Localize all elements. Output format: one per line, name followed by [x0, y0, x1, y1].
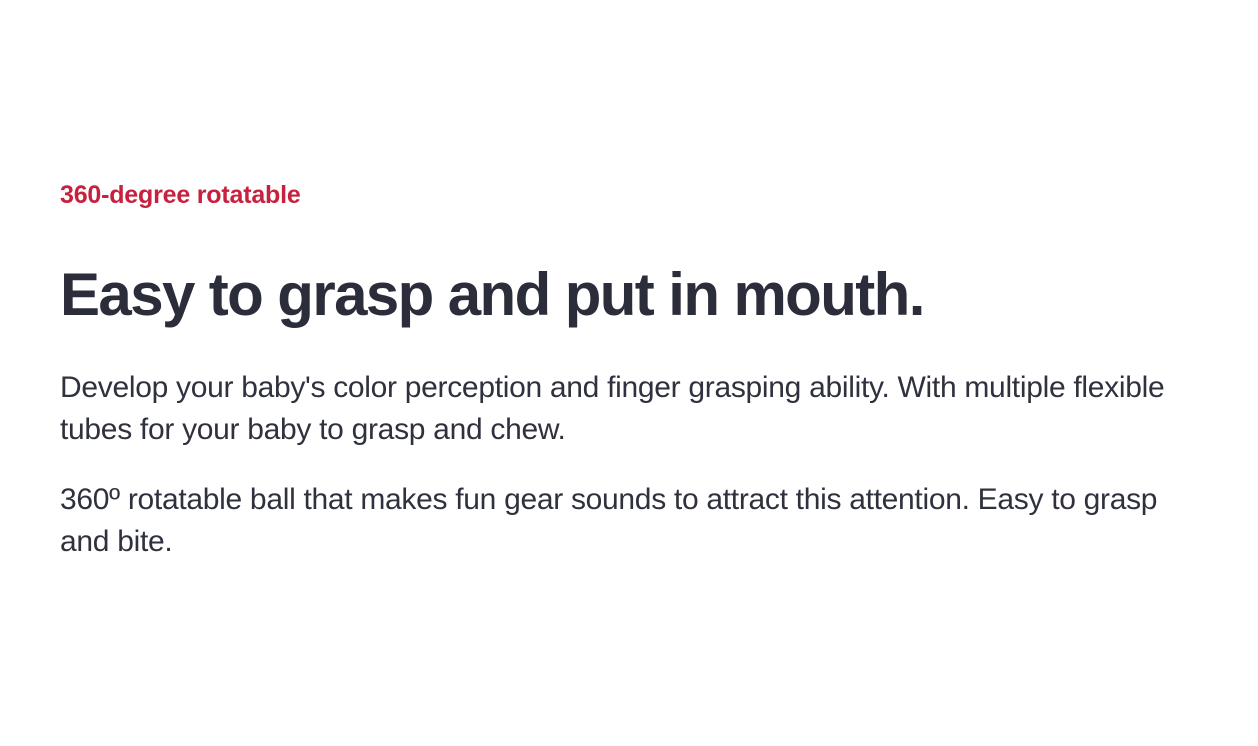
feature-paragraph-2: 360º rotatable ball that makes fun gear …: [60, 479, 1212, 563]
feature-eyebrow-label: 360-degree rotatable: [60, 183, 1212, 208]
feature-paragraph-1: Develop your baby's color perception and…: [60, 367, 1212, 451]
feature-headline: Easy to grasp and put in mouth.: [60, 264, 1212, 325]
feature-content-block: 360-degree rotatable Easy to grasp and p…: [60, 183, 1212, 563]
product-feature-section: 360-degree rotatable Easy to grasp and p…: [0, 0, 1258, 746]
